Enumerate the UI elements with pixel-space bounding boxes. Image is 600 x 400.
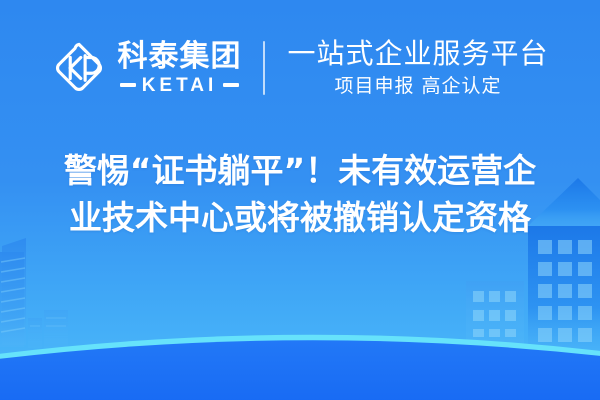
brand-lockup: 科泰集团 KETAI xyxy=(51,40,241,96)
headline-line-1: 警惕“证书躺平”！未有效运营企 xyxy=(30,148,570,195)
left-tower-group xyxy=(0,238,26,347)
header-divider xyxy=(263,41,265,95)
brand-wordmark: 科泰集团 KETAI xyxy=(117,42,241,95)
tagline-block: 一站式企业服务平台 项目申报 高企认定 xyxy=(287,38,548,98)
promo-banner: 科泰集团 KETAI 一站式企业服务平台 项目申报 高企认定 警惕“证书躺平”！… xyxy=(0,0,600,400)
brand-name-en-row: KETAI xyxy=(120,76,240,95)
horizon-glow-arc xyxy=(0,335,600,400)
ground-plane xyxy=(0,340,600,400)
ketai-monogram-icon xyxy=(51,40,107,96)
left-midrise-group xyxy=(28,310,68,348)
tagline-primary: 一站式企业服务平台 xyxy=(287,38,548,70)
brand-name-cn: 科泰集团 xyxy=(117,42,241,72)
headline-line-2: 业技术中心或将被撤销认定资格 xyxy=(30,195,570,242)
banner-header: 科泰集团 KETAI 一站式企业服务平台 项目申报 高企认定 xyxy=(0,28,600,108)
wordmark-dash-right xyxy=(223,83,239,87)
tagline-secondary: 项目申报 高企认定 xyxy=(334,76,501,98)
right-small-block-group xyxy=(466,281,524,349)
headline: 警惕“证书躺平”！未有效运营企 业技术中心或将被撤销认定资格 xyxy=(30,148,570,242)
brand-name-en: KETAI xyxy=(142,76,218,95)
wordmark-dash-left xyxy=(120,83,136,87)
